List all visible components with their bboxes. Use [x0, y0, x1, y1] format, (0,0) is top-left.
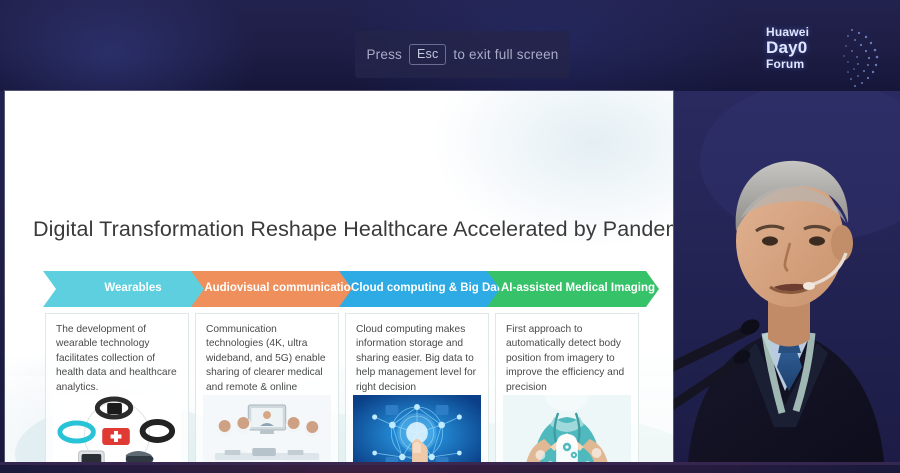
- bottom-color-band: [0, 462, 900, 473]
- cloud-network-photo: [353, 395, 481, 462]
- wearable-devices-photo: [53, 395, 181, 462]
- logo-line-day0: Day0: [766, 39, 809, 57]
- logo-line-forum: Forum: [766, 58, 809, 70]
- chevron-stage-3[interactable]: Cloud computing & Big Data: [339, 271, 509, 307]
- logo-dot-burst-icon: [798, 20, 884, 91]
- huawei-day0-forum-logo: Huawei Day0 Forum: [758, 22, 878, 88]
- top-bar: Press Esc to exit full screen: [0, 0, 900, 91]
- ai-medical-illustration: [503, 395, 631, 462]
- slide-title: Digital Transformation Reshape Healthcar…: [33, 217, 673, 242]
- stage-card-3-text: Cloud computing makes information storag…: [346, 314, 488, 395]
- logo-text: Huawei Day0 Forum: [766, 26, 809, 71]
- presentation-slide: Digital Transformation Reshape Healthcar…: [5, 91, 673, 462]
- chevron-stage-1[interactable]: Wearables: [43, 271, 213, 307]
- stage-card-4: First approach to automatically detect b…: [495, 313, 639, 462]
- exit-fullscreen-hint: Press Esc to exit full screen: [355, 31, 570, 78]
- logo-line-huawei: Huawei: [766, 26, 809, 38]
- chevron-stage-4[interactable]: AI-assisted Medical Imaging: [487, 271, 659, 307]
- stage-card-3: Cloud computing makes information storag…: [345, 313, 489, 462]
- speaker-illustration: [670, 91, 900, 462]
- chevron-stage-4-label: AI-assisted Medical Imaging: [501, 282, 655, 296]
- wearables-illustration: [53, 395, 181, 462]
- chevron-stage-3-label: Cloud computing & Big Data: [351, 282, 507, 296]
- stage-light-glow-left: [0, 0, 260, 91]
- fullscreen-presentation-view: Press Esc to exit full screen: [0, 0, 900, 473]
- stage-card-2: Communication technologies (4K, ultra wi…: [195, 313, 339, 462]
- video-consultation-photo: [203, 395, 331, 462]
- esc-key-badge[interactable]: Esc: [409, 44, 446, 65]
- chevron-stage-2[interactable]: Audiovisual communication: [191, 271, 361, 307]
- esc-hint-suffix: to exit full screen: [453, 47, 558, 62]
- speaker-portrait: [670, 91, 900, 462]
- chevron-stage-2-label: Audiovisual communication: [204, 282, 357, 296]
- ai-doctor-photo: [503, 395, 631, 462]
- bottom-band-strip: [0, 462, 900, 465]
- stage-chevron-row: Wearables Audiovisual communication Clou…: [43, 271, 653, 307]
- esc-hint-prefix: Press: [366, 47, 402, 62]
- stage-card-4-text: First approach to automatically detect b…: [496, 314, 638, 395]
- stage-card-1: The development of wearable technology f…: [45, 313, 189, 462]
- telemedicine-illustration: [203, 395, 331, 462]
- stage-card-1-text: The development of wearable technology f…: [46, 314, 188, 395]
- network-touch-illustration: [353, 395, 481, 462]
- chevron-stage-1-label: Wearables: [104, 282, 161, 296]
